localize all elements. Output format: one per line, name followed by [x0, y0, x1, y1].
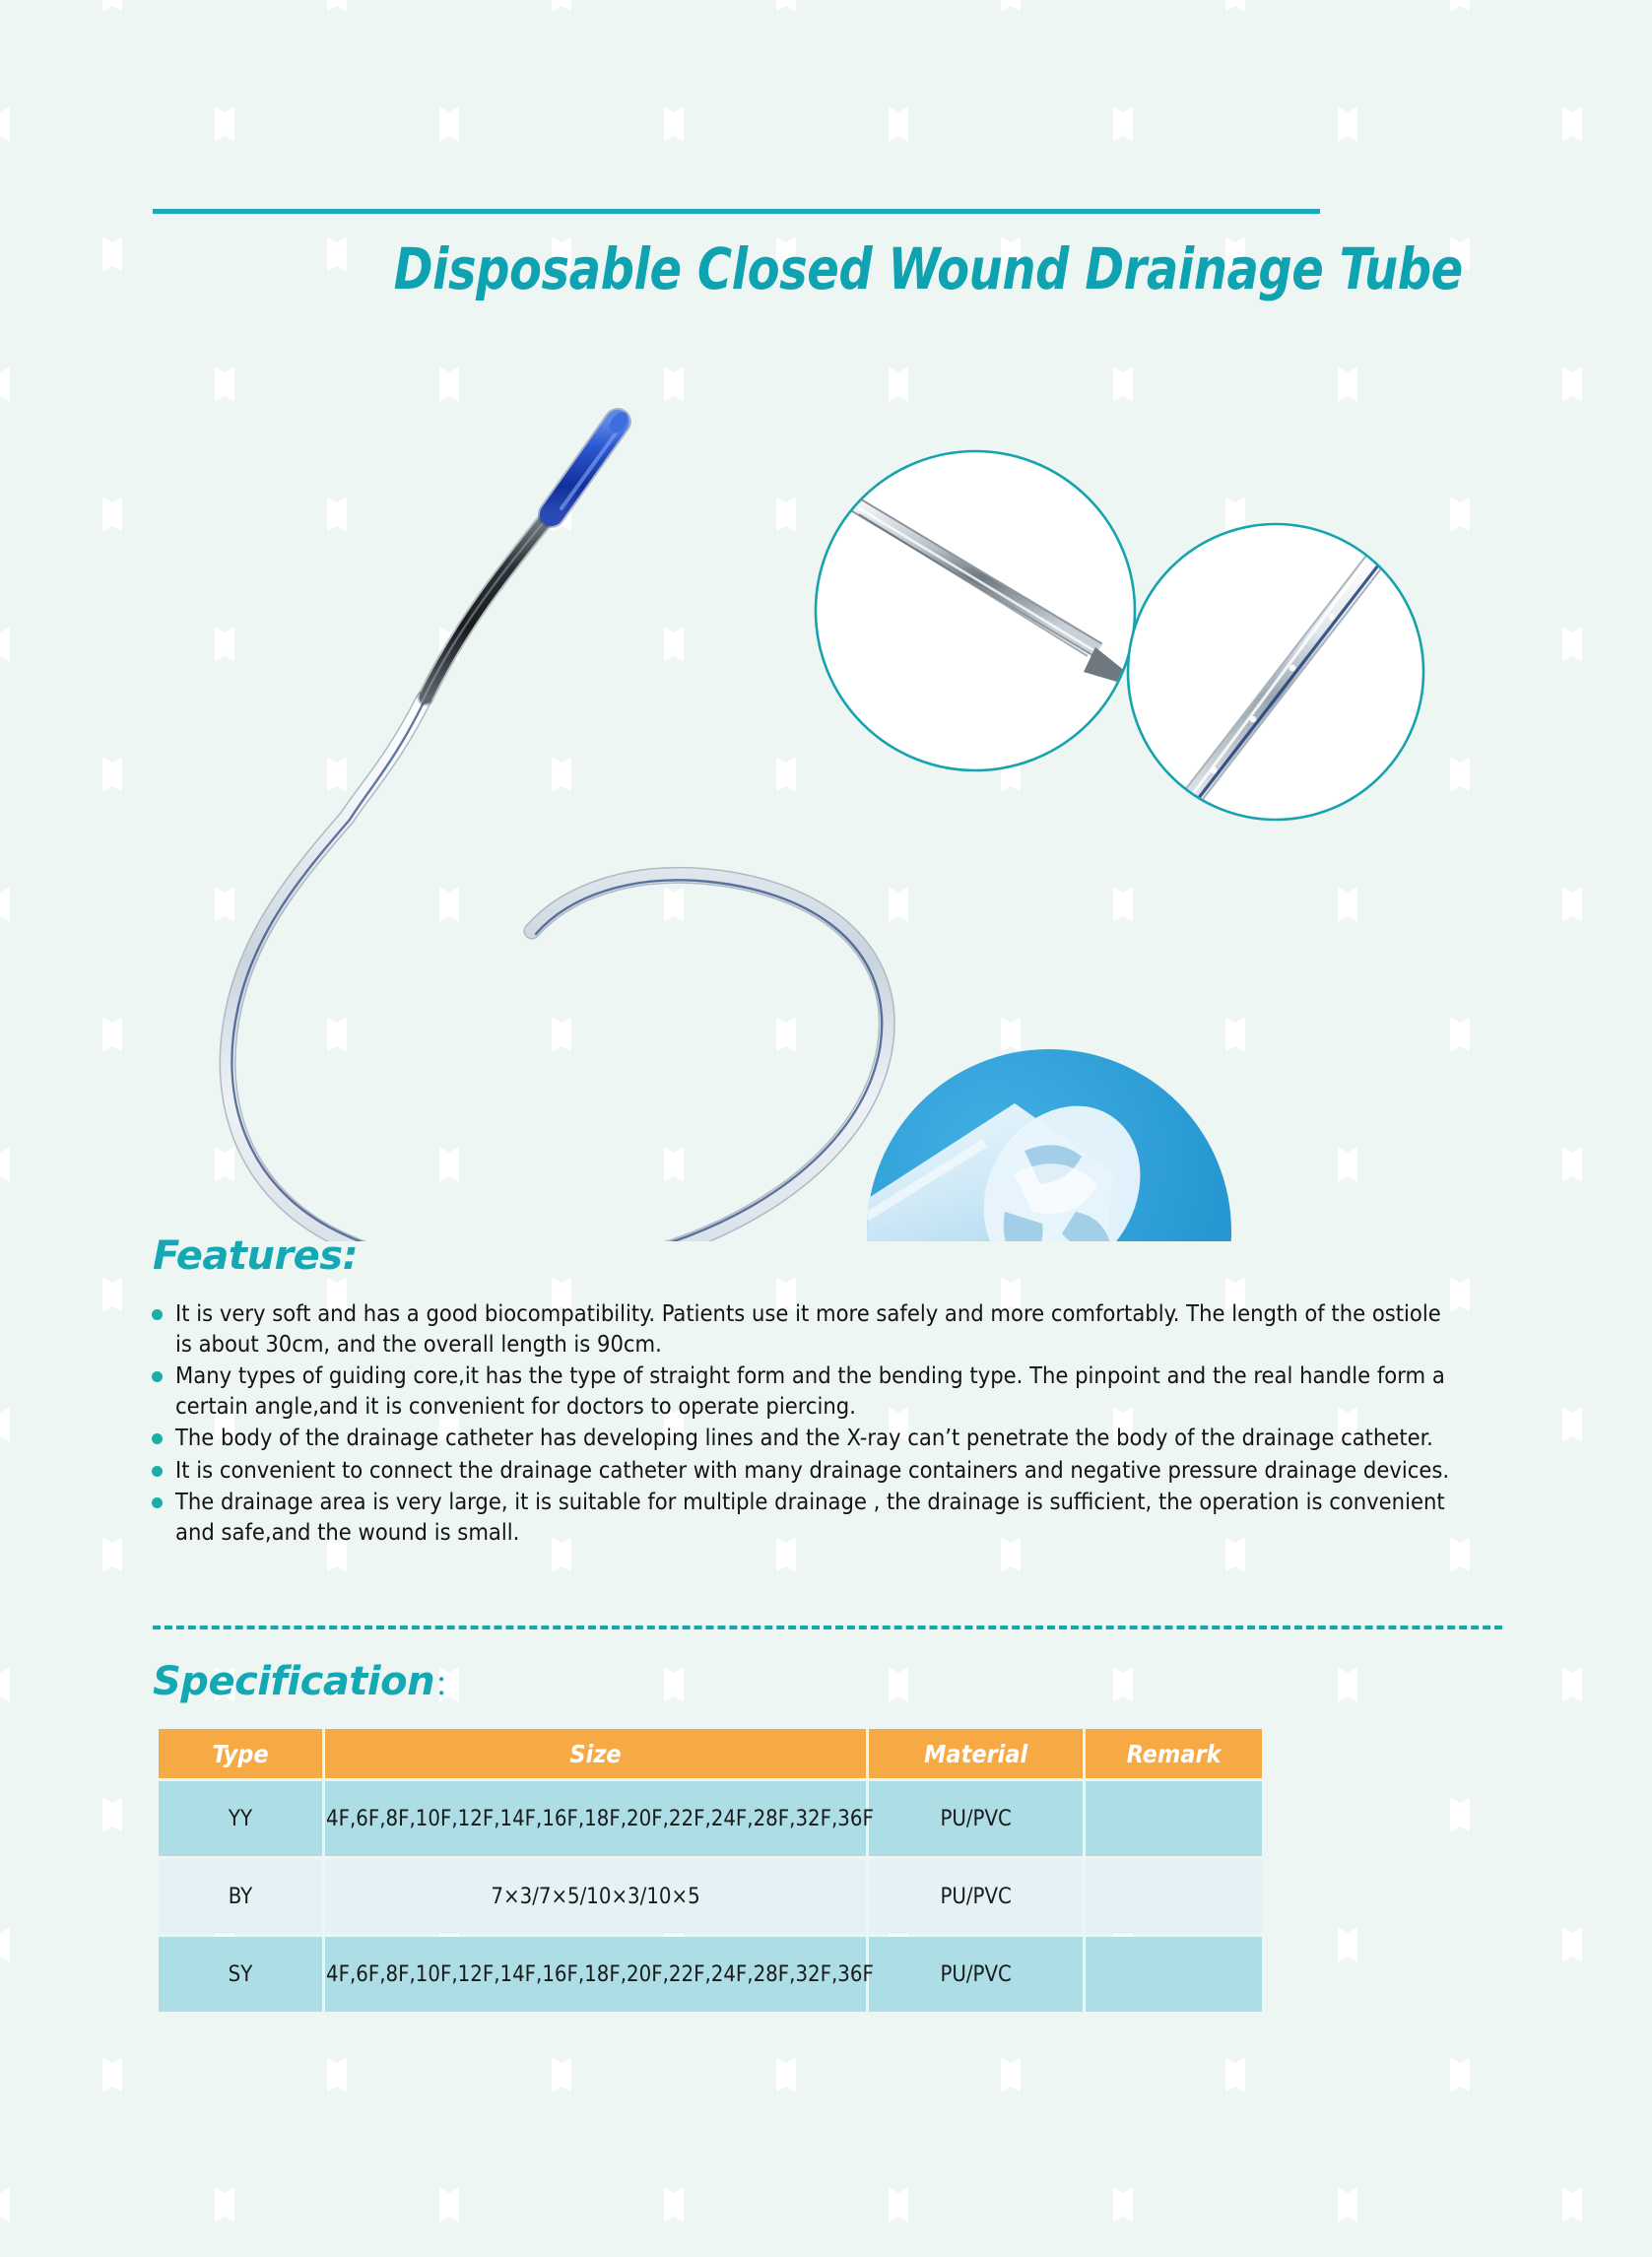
feature-text: It is very soft and has a good biocompat…	[175, 1299, 1441, 1358]
cell-remark	[1086, 1781, 1262, 1856]
header-divider-rule	[153, 209, 1320, 214]
table-row: YY 4F,6F,8F,10F,12F,14F,16F,18F,20F,22F,…	[159, 1781, 1262, 1856]
feature-item: The body of the drainage catheter has de…	[150, 1423, 1460, 1453]
bullet-dot-icon	[152, 1466, 163, 1477]
cell-material: PU/PVC	[869, 1781, 1083, 1856]
column-header-material: Material	[869, 1729, 1083, 1778]
feature-item: Many types of guiding core,it has the ty…	[150, 1361, 1460, 1421]
features-list: It is very soft and has a good biocompat…	[150, 1298, 1460, 1549]
cell-size: 4F,6F,8F,10F,12F,14F,16F,18F,20F,22F,24F…	[325, 1937, 866, 2012]
blue-handle-cap	[552, 409, 631, 514]
cross-section-inset	[847, 1049, 1231, 1241]
bullet-dot-icon	[152, 1433, 163, 1444]
cell-type: SY	[159, 1937, 322, 2012]
feature-item: The drainage area is very large, it is s…	[150, 1487, 1460, 1547]
feature-text: It is convenient to connect the drainage…	[175, 1456, 1449, 1484]
table-row: BY 7×3/7×5/10×3/10×5 PU/PVC	[159, 1859, 1262, 1934]
feature-text: The drainage area is very large, it is s…	[175, 1488, 1445, 1546]
specification-table: Type Size Material Remark YY 4F,6F,8F,10…	[156, 1726, 1265, 2015]
features-heading: Features:	[153, 1233, 358, 1279]
column-header-size: Size	[325, 1729, 866, 1778]
bullet-dot-icon	[152, 1497, 163, 1508]
cell-type: YY	[159, 1781, 322, 1856]
shaft-detail-inset	[1128, 524, 1423, 820]
page-title: Disposable Closed Wound Drainage Tube	[262, 236, 1517, 301]
feature-text: The body of the drainage catheter has de…	[175, 1424, 1433, 1451]
drainage-tube-coil	[228, 699, 887, 1241]
feature-text: Many types of guiding core,it has the ty…	[175, 1361, 1445, 1420]
column-header-remark: Remark	[1086, 1729, 1262, 1778]
needle-tip-inset	[816, 451, 1151, 770]
bullet-dot-icon	[152, 1371, 163, 1382]
feature-item: It is convenient to connect the drainage…	[150, 1455, 1460, 1486]
metal-trocar-shaft	[422, 512, 552, 702]
cell-size: 4F,6F,8F,10F,12F,14F,16F,18F,20F,22F,24F…	[325, 1781, 866, 1856]
cell-material: PU/PVC	[869, 1937, 1083, 2012]
cell-remark	[1086, 1859, 1262, 1934]
cell-type: BY	[159, 1859, 322, 1934]
table-row: SY 4F,6F,8F,10F,12F,14F,16F,18F,20F,22F,…	[159, 1937, 1262, 2012]
section-dashed-divider	[153, 1626, 1502, 1629]
cell-material: PU/PVC	[869, 1859, 1083, 1934]
cell-size: 7×3/7×5/10×3/10×5	[325, 1859, 866, 1934]
table-header-row: Type Size Material Remark	[159, 1729, 1262, 1778]
cell-remark	[1086, 1937, 1262, 2012]
specification-heading-text: Specification	[153, 1659, 434, 1704]
column-header-type: Type	[159, 1729, 322, 1778]
bullet-dot-icon	[152, 1309, 163, 1320]
feature-item: It is very soft and has a good biocompat…	[150, 1298, 1460, 1359]
specification-heading-colon: ：	[434, 1669, 462, 1701]
product-hero-image	[0, 325, 1652, 1241]
specification-heading: Specification：	[153, 1659, 462, 1704]
